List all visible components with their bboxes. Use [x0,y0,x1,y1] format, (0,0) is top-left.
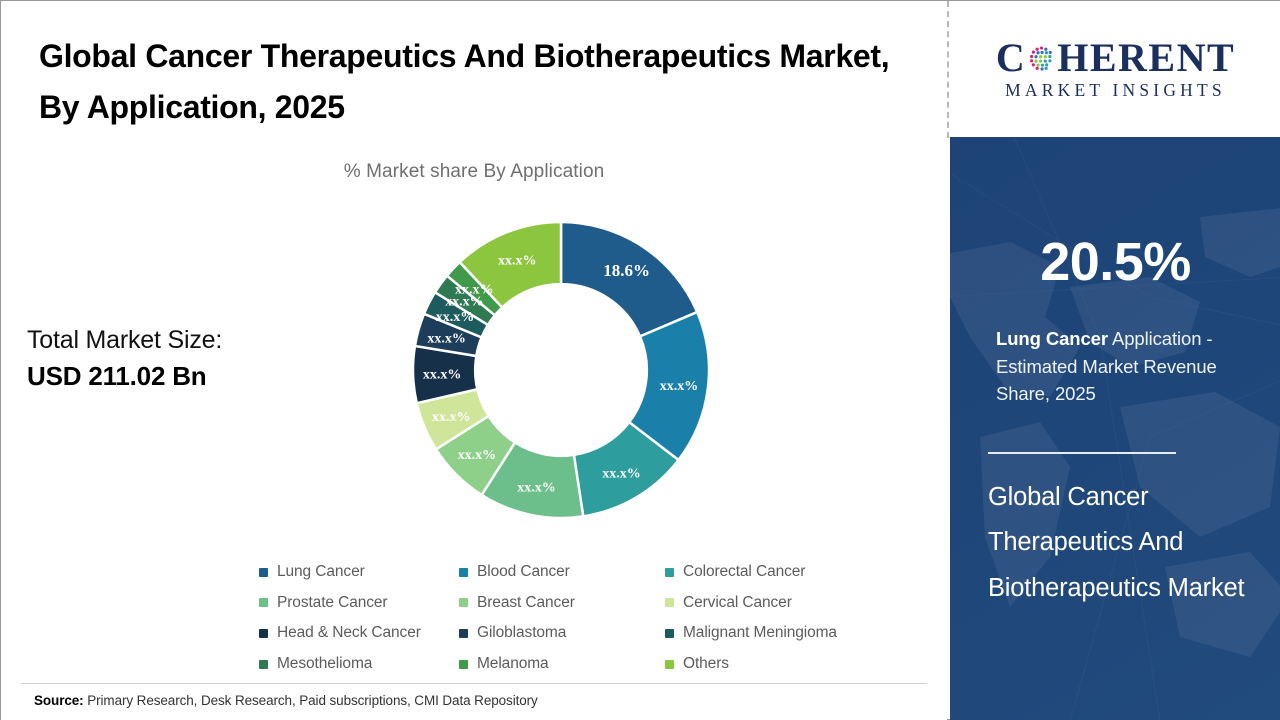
legend-item-label: Melanoma [477,655,549,673]
legend-item[interactable]: Cervical Cancer [665,594,899,612]
report-name: Global Cancer Therapeutics And Biotherap… [988,475,1260,611]
infographic-canvas: Global Cancer Therapeutics And Biotherap… [0,0,1280,720]
legend-swatch-icon [459,629,468,638]
source-label: Source: [34,693,84,708]
legend-item-label: Head & Neck Cancer [277,624,421,642]
legend-item-label: Colorectal Cancer [683,563,805,581]
total-market-size-label: Total Market Size: [27,323,297,358]
legend-item-label: Cervical Cancer [683,594,792,612]
legend-swatch-icon [665,660,674,669]
footer-divider [21,683,927,684]
panel-dashed-divider [947,1,949,138]
legend-swatch-icon [259,660,268,669]
page-title: Global Cancer Therapeutics And Biotherap… [39,31,919,132]
donut-slice-label: xx.x% [498,253,537,268]
donut-chart: 18.6%xx.x%xx.x%xx.x%xx.x%xx.x%xx.x%xx.x%… [410,219,712,521]
legend-item-label: Malignant Meningioma [683,624,837,642]
legend-item[interactable]: Prostate Cancer [259,594,459,612]
legend-swatch-icon [665,568,674,577]
legend-item[interactable]: Mesothelioma [259,655,459,673]
highlight-panel: 20.5% Lung Cancer Application - Estimate… [950,137,1280,720]
donut-slice-label: xx.x% [517,480,556,495]
total-market-size-block: Total Market Size: USD 211.02 Bn [27,323,297,394]
donut-slice-label: xx.x% [427,332,466,347]
legend-swatch-icon [459,598,468,607]
donut-chart-svg: 18.6%xx.x%xx.x%xx.x%xx.x%xx.x%xx.x%xx.x%… [410,219,712,521]
highlight-divider [988,452,1176,454]
legend-swatch-icon [259,629,268,638]
legend-item[interactable]: Melanoma [459,655,665,673]
legend-swatch-icon [459,660,468,669]
legend-item[interactable]: Giloblastoma [459,624,665,642]
legend-item-label: Lung Cancer [277,563,365,581]
dotted-sphere-icon [1027,44,1056,73]
legend-item[interactable]: Breast Cancer [459,594,665,612]
chart-legend: Lung CancerBlood CancerColorectal Cancer… [259,557,899,679]
legend-item[interactable]: Blood Cancer [459,563,665,581]
donut-slice-label: xx.x% [423,368,462,383]
chart-panel: Global Cancer Therapeutics And Biotherap… [1,1,947,720]
legend-item[interactable]: Others [665,655,899,673]
logo-tagline: MARKET INSIGHTS [1005,82,1226,100]
donut-slice-label: xx.x% [432,410,471,425]
donut-slice-label: xx.x% [660,379,699,394]
highlight-percent: 20.5% [950,235,1280,289]
legend-item[interactable]: Head & Neck Cancer [259,624,459,642]
world-map-background-icon [950,137,1280,720]
donut-slice-label: xx.x% [455,283,494,298]
donut-slice-label: xx.x% [436,310,475,325]
logo-wordmark-rest: HERENT [1057,38,1235,78]
legend-swatch-icon [665,629,674,638]
donut-slice-label: xx.x% [458,448,497,463]
legend-item-label: Mesothelioma [277,655,372,673]
source-text: Primary Research, Desk Research, Paid su… [84,693,538,708]
donut-slice-label: xx.x% [602,466,641,481]
legend-item[interactable]: Colorectal Cancer [665,563,899,581]
logo-wordmark: C [996,38,1235,78]
source-line: Source: Primary Research, Desk Research,… [34,693,538,708]
highlight-caption-bold: Lung Cancer [996,328,1108,349]
legend-swatch-icon [259,598,268,607]
legend-swatch-icon [259,568,268,577]
logo-letter-c: C [996,38,1026,78]
brand-panel: C [950,1,1280,720]
company-logo[interactable]: C [950,1,1280,137]
legend-item[interactable]: Malignant Meningioma [665,624,899,642]
highlight-caption: Lung Cancer Application - Estimated Mark… [996,325,1264,408]
chart-subtitle: % Market share By Application [1,161,947,183]
legend-item-label: Blood Cancer [477,563,570,581]
legend-swatch-icon [665,598,674,607]
total-market-size-value: USD 211.02 Bn [27,358,297,394]
legend-item[interactable]: Lung Cancer [259,563,459,581]
donut-slice-label: 18.6% [603,261,650,280]
legend-item-label: Giloblastoma [477,624,566,642]
legend-item-label: Prostate Cancer [277,594,388,612]
legend-swatch-icon [459,568,468,577]
legend-item-label: Breast Cancer [477,594,575,612]
legend-item-label: Others [683,655,729,673]
